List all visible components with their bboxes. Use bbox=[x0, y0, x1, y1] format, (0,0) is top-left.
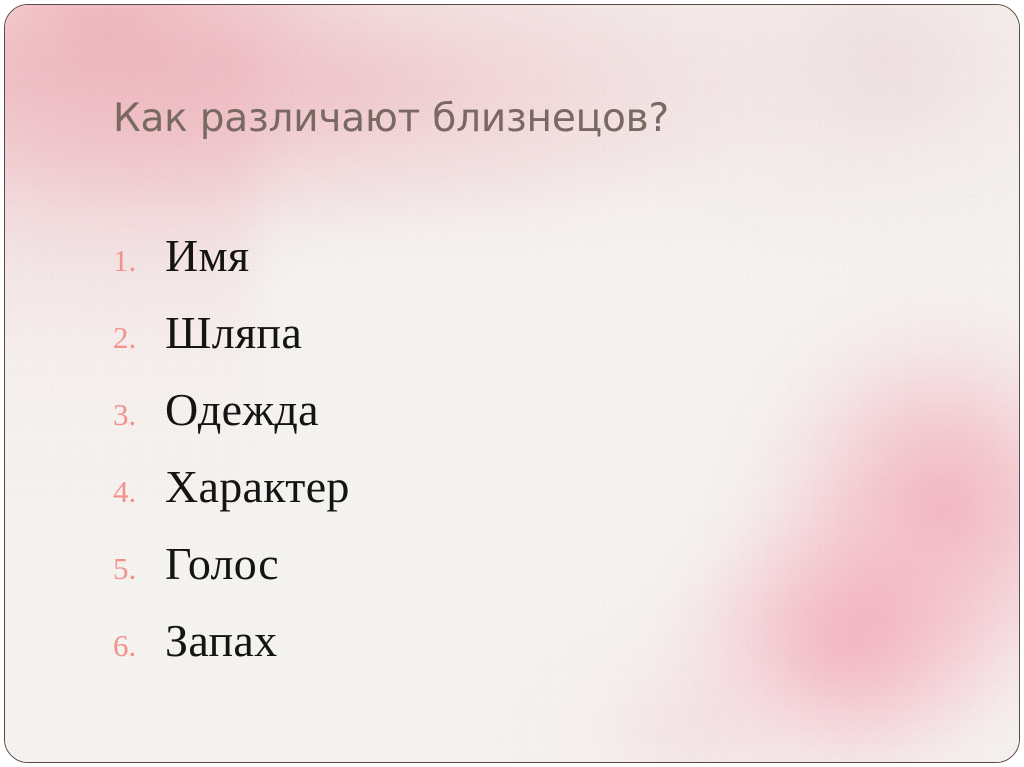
numbered-list: 1. Имя 2. Шляпа 3. Одежда 4. Характер 5. bbox=[113, 233, 873, 695]
list-item-label: Одежда bbox=[165, 387, 319, 433]
list-item-number: 2. bbox=[113, 322, 165, 353]
slide-content: Как различают близнецов? 1. Имя 2. Шляпа… bbox=[5, 5, 1019, 762]
list-item: 2. Шляпа bbox=[113, 310, 873, 387]
list-item: 1. Имя bbox=[113, 233, 873, 310]
list-item-label: Характер bbox=[165, 464, 350, 510]
list-item: 4. Характер bbox=[113, 464, 873, 541]
list-item-label: Запах bbox=[165, 618, 277, 664]
list-item-label: Шляпа bbox=[165, 310, 302, 356]
list-item-number: 4. bbox=[113, 476, 165, 507]
list-item-label: Голос bbox=[165, 541, 279, 587]
list-item-label: Имя bbox=[165, 233, 249, 279]
list-item: 6. Запах bbox=[113, 618, 873, 695]
list-item-number: 5. bbox=[113, 553, 165, 584]
list-item: 5. Голос bbox=[113, 541, 873, 618]
slide-card: Как различают близнецов? 1. Имя 2. Шляпа… bbox=[4, 4, 1020, 763]
list-item-number: 6. bbox=[113, 630, 165, 661]
slide-title: Как различают близнецов? bbox=[113, 97, 953, 141]
list-item: 3. Одежда bbox=[113, 387, 873, 464]
presentation-slide: Как различают близнецов? 1. Имя 2. Шляпа… bbox=[0, 0, 1024, 767]
list-item-number: 1. bbox=[113, 245, 165, 276]
list-item-number: 3. bbox=[113, 399, 165, 430]
